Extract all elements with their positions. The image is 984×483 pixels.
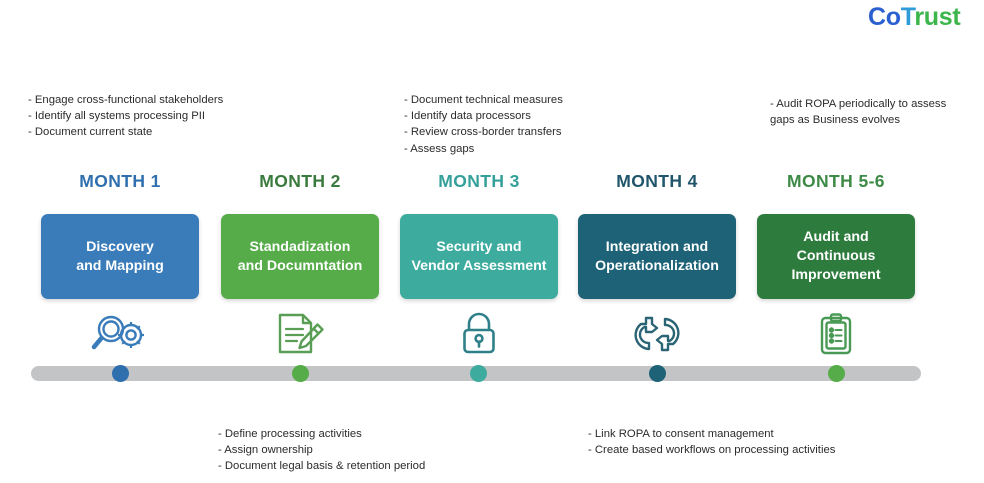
month-label: MONTH 2 [221,170,379,192]
phase-header-3: MONTH 3 [400,170,558,192]
phase-card-text: Standadization and Documntation [238,238,363,276]
timeline-dot-month-4[interactable] [649,365,666,382]
card-line-1: Audit and Continuous [797,229,876,264]
note-month-3: - Document technical measures - Identify… [404,92,563,157]
phase-column-1: MONTH 1 Discovery and Mapping [41,170,199,359]
phase-card-text: Security and Vendor Assessment [411,238,546,276]
logo-text-t: T [901,3,915,31]
document-pencil-icon [273,311,327,362]
note-line: - Document legal basis & retention perio… [218,458,425,474]
infographic-canvas: CoTrust - Engage cross-functional stakeh… [0,0,984,483]
card-line-2: Improvement [791,267,880,283]
phase-icon-slot-4 [578,313,736,359]
logo-text-rust: rust [914,3,960,31]
month-label: MONTH 3 [400,170,558,192]
note-line: - Audit ROPA periodically to assess [770,96,946,112]
phase-card-security-and-vendor-assessment[interactable]: Security and Vendor Assessment [400,214,558,299]
phase-column-5: MONTH 5-6 Audit and Continuous Improveme… [757,170,915,359]
card-line-1: Standadization [250,239,351,255]
phase-card-text: Discovery and Mapping [76,238,163,276]
note-line: - Document technical measures [404,92,563,108]
note-month-4: - Link ROPA to consent management - Crea… [588,426,835,458]
note-line: - Create based workflows on processing a… [588,442,835,458]
month-label: MONTH 5-6 [757,170,915,192]
timeline-dot-month-5-6[interactable] [828,365,845,382]
month-label: MONTH 1 [41,170,199,192]
phase-card-standardization-and-documentation[interactable]: Standadization and Documntation [221,214,379,299]
phase-card-text: Audit and Continuous Improvement [763,228,909,285]
note-line: - Review cross-border transfers [404,124,563,140]
card-line-2: Operationalization [595,258,719,274]
cotrust-logo: CoTrust [868,3,960,31]
note-month-2: - Define processing activities - Assign … [218,426,425,475]
card-line-2: and Documntation [238,258,363,274]
phase-header-1: MONTH 1 [41,170,199,192]
month-label: MONTH 4 [578,170,736,192]
timeline-dot-month-2[interactable] [292,365,309,382]
note-line: - Assign ownership [218,442,425,458]
logo-text-co: Co [868,3,901,31]
phase-card-integration-and-operationalization[interactable]: Integration and Operationalization [578,214,736,299]
phase-icon-slot-2 [221,313,379,359]
phase-column-4: MONTH 4 Integration and Operationalizati… [578,170,736,359]
phase-column-2: MONTH 2 Standadization and Documntation [221,170,379,359]
note-line: - Identify all systems processing PII [28,108,223,124]
card-line-1: Integration and [606,239,708,255]
phase-card-discovery-and-mapping[interactable]: Discovery and Mapping [41,214,199,299]
phase-header-4: MONTH 4 [578,170,736,192]
note-month-1: - Engage cross-functional stakeholders -… [28,92,223,141]
note-line: gaps as Business evolves [770,112,946,128]
card-line-1: Discovery [86,239,154,255]
note-line: - Document current state [28,124,223,140]
phase-icon-slot-5 [757,313,915,359]
phase-header-2: MONTH 2 [221,170,379,192]
phase-icon-slot-3 [400,313,558,359]
note-line: - Identify data processors [404,108,563,124]
sync-arrows-icon [633,311,681,362]
padlock-icon [458,311,500,362]
phase-card-text: Integration and Operationalization [595,238,719,276]
phase-header-5: MONTH 5-6 [757,170,915,192]
phase-icon-slot-1 [41,313,199,359]
note-month-5-6: - Audit ROPA periodically to assess gaps… [770,96,946,128]
note-line: - Assess gaps [404,141,563,157]
phase-card-audit-and-continuous-improvement[interactable]: Audit and Continuous Improvement [757,214,915,299]
phase-column-3: MONTH 3 Security and Vendor Assessment [400,170,558,359]
timeline-dot-month-3[interactable] [470,365,487,382]
note-line: - Engage cross-functional stakeholders [28,92,223,108]
note-line: - Link ROPA to consent management [588,426,835,442]
note-line: - Define processing activities [218,426,425,442]
timeline-dot-month-1[interactable] [112,365,129,382]
card-line-2: Vendor Assessment [411,258,546,274]
card-line-1: Security and [436,239,521,255]
clipboard-checklist-icon [816,311,856,362]
magnifier-gear-icon [89,311,151,362]
card-line-2: and Mapping [76,258,163,274]
